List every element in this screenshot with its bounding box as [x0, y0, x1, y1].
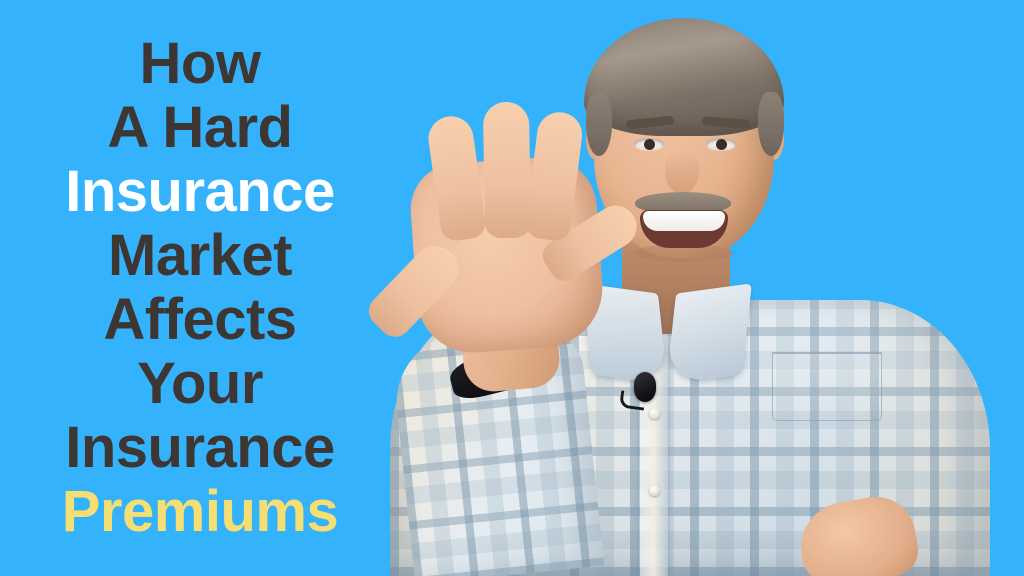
- shirt-collar-right: [666, 283, 752, 384]
- title-line-4: Market: [0, 224, 400, 288]
- shirt-button: [649, 485, 660, 496]
- pupil-left: [644, 139, 655, 150]
- title-line-1: How: [0, 32, 400, 96]
- shirt-button: [649, 408, 660, 419]
- smiling-mouth: [640, 210, 728, 248]
- title-line-5: Affects: [0, 288, 400, 352]
- title-line-6: Your: [0, 352, 400, 416]
- title-line-2: A Hard: [0, 96, 400, 160]
- title-line-8: Premiums: [0, 480, 400, 544]
- title-line-3: Insurance: [0, 160, 400, 224]
- title-line-7: Insurance: [0, 416, 400, 480]
- nose: [665, 150, 699, 194]
- subject-photo: [372, 0, 1024, 576]
- thumbnail-title: How A Hard Insurance Market Affects Your…: [0, 32, 400, 544]
- sideburn-left: [586, 92, 612, 156]
- shirt-pocket: [772, 352, 882, 421]
- video-thumbnail: How A Hard Insurance Market Affects Your…: [0, 0, 1024, 576]
- middle-finger: [483, 102, 531, 239]
- hair: [584, 18, 784, 136]
- pupil-right: [716, 139, 727, 150]
- teeth: [643, 211, 725, 231]
- sideburn-right: [758, 92, 784, 156]
